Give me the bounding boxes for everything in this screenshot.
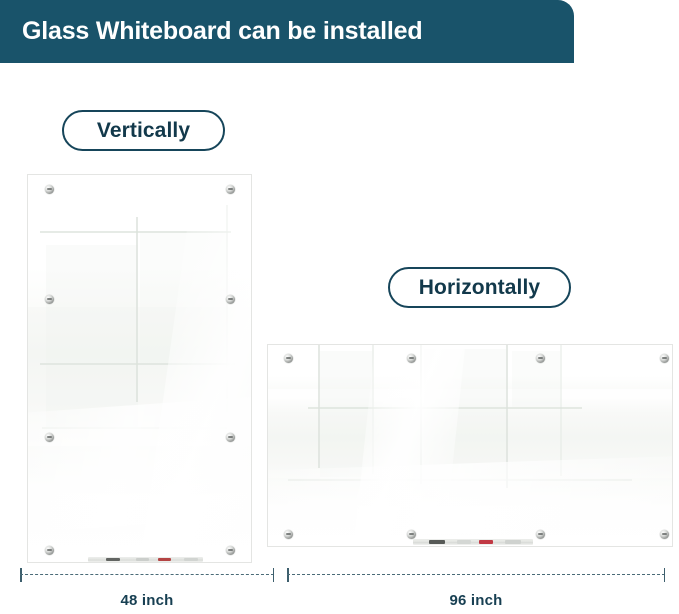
reflection-mullion-hh1 (308, 407, 582, 409)
page-title: Glass Whiteboard can be installed (0, 17, 422, 46)
whiteboard-marker-icon (136, 558, 149, 561)
dimension-cap-left (20, 568, 22, 582)
whiteboard-marker-icon (479, 540, 493, 544)
badge-vertically-label: Vertically (97, 119, 190, 143)
reflection-mullion-h2 (40, 363, 235, 365)
screw-cap-icon (284, 530, 293, 539)
screw-cap-icon (284, 354, 293, 363)
floor-reflection-horizontal (268, 478, 672, 546)
screw-cap-icon (45, 295, 54, 304)
infographic-canvas: Glass Whiteboard can be installed Vertic… (0, 0, 679, 614)
screw-cap-icon (536, 354, 545, 363)
badge-horizontally: Horizontally (388, 267, 571, 308)
screw-cap-icon (660, 530, 669, 539)
reflection-mullion-hv4 (506, 345, 508, 488)
badge-vertically: Vertically (62, 110, 225, 151)
reflection-mullion-h1 (40, 231, 231, 233)
screw-cap-icon (660, 354, 669, 363)
reflection-panel-h-c (424, 349, 506, 407)
reflection-panel-a (46, 245, 138, 363)
whiteboard-marker-icon (429, 540, 445, 544)
reflection-panel-h-b (320, 409, 372, 477)
reflection-panel-c (46, 365, 138, 427)
whiteboard-vertical (28, 175, 251, 562)
badge-horizontally-label: Horizontally (419, 276, 540, 300)
whiteboard-horizontal (268, 345, 672, 546)
dimension-cap-right (273, 568, 275, 582)
floor-reflection-vertical (28, 446, 251, 562)
screw-cap-icon (45, 433, 54, 442)
screw-cap-icon (407, 354, 416, 363)
reflection-mullion-hv3 (420, 345, 422, 484)
dimension-cap-right (664, 568, 666, 582)
screw-cap-icon (407, 530, 416, 539)
reflection-mullion-v2 (226, 205, 228, 412)
screw-cap-icon (226, 433, 235, 442)
whiteboard-marker-icon (457, 540, 471, 544)
reflection-mullion-hv2 (372, 345, 374, 474)
dimension-dashes (287, 574, 665, 575)
dimension-cap-left (287, 568, 289, 582)
whiteboard-marker-icon (158, 558, 171, 561)
marker-tray-horizontal (413, 539, 533, 545)
screw-cap-icon (226, 546, 235, 555)
dimension-label-horizontal: 96 inch (287, 592, 665, 609)
marker-tray-vertical (88, 557, 203, 562)
whiteboard-marker-icon (184, 558, 198, 561)
reflection-mullion-hv5 (560, 345, 562, 476)
reflection-panel-h-a (320, 351, 372, 409)
screw-cap-icon (226, 295, 235, 304)
screw-cap-icon (226, 185, 235, 194)
reflection-mullion-h3 (42, 427, 227, 429)
header-banner: Glass Whiteboard can be installed (0, 0, 574, 63)
dimension-line-horizontal (287, 568, 665, 582)
screw-cap-icon (536, 530, 545, 539)
whiteboard-marker-icon (505, 540, 521, 544)
screw-cap-icon (45, 185, 54, 194)
whiteboard-marker-icon (106, 558, 120, 561)
dimension-line-vertical (20, 568, 274, 582)
reflection-panel-b (140, 231, 226, 363)
screw-cap-icon (45, 546, 54, 555)
reflection-mullion-hh2 (288, 479, 632, 481)
reflection-mullion-v1 (136, 217, 138, 402)
reflection-panel-h-d (424, 407, 506, 479)
dimension-dashes (20, 574, 274, 575)
dimension-label-vertical: 48 inch (20, 592, 274, 609)
